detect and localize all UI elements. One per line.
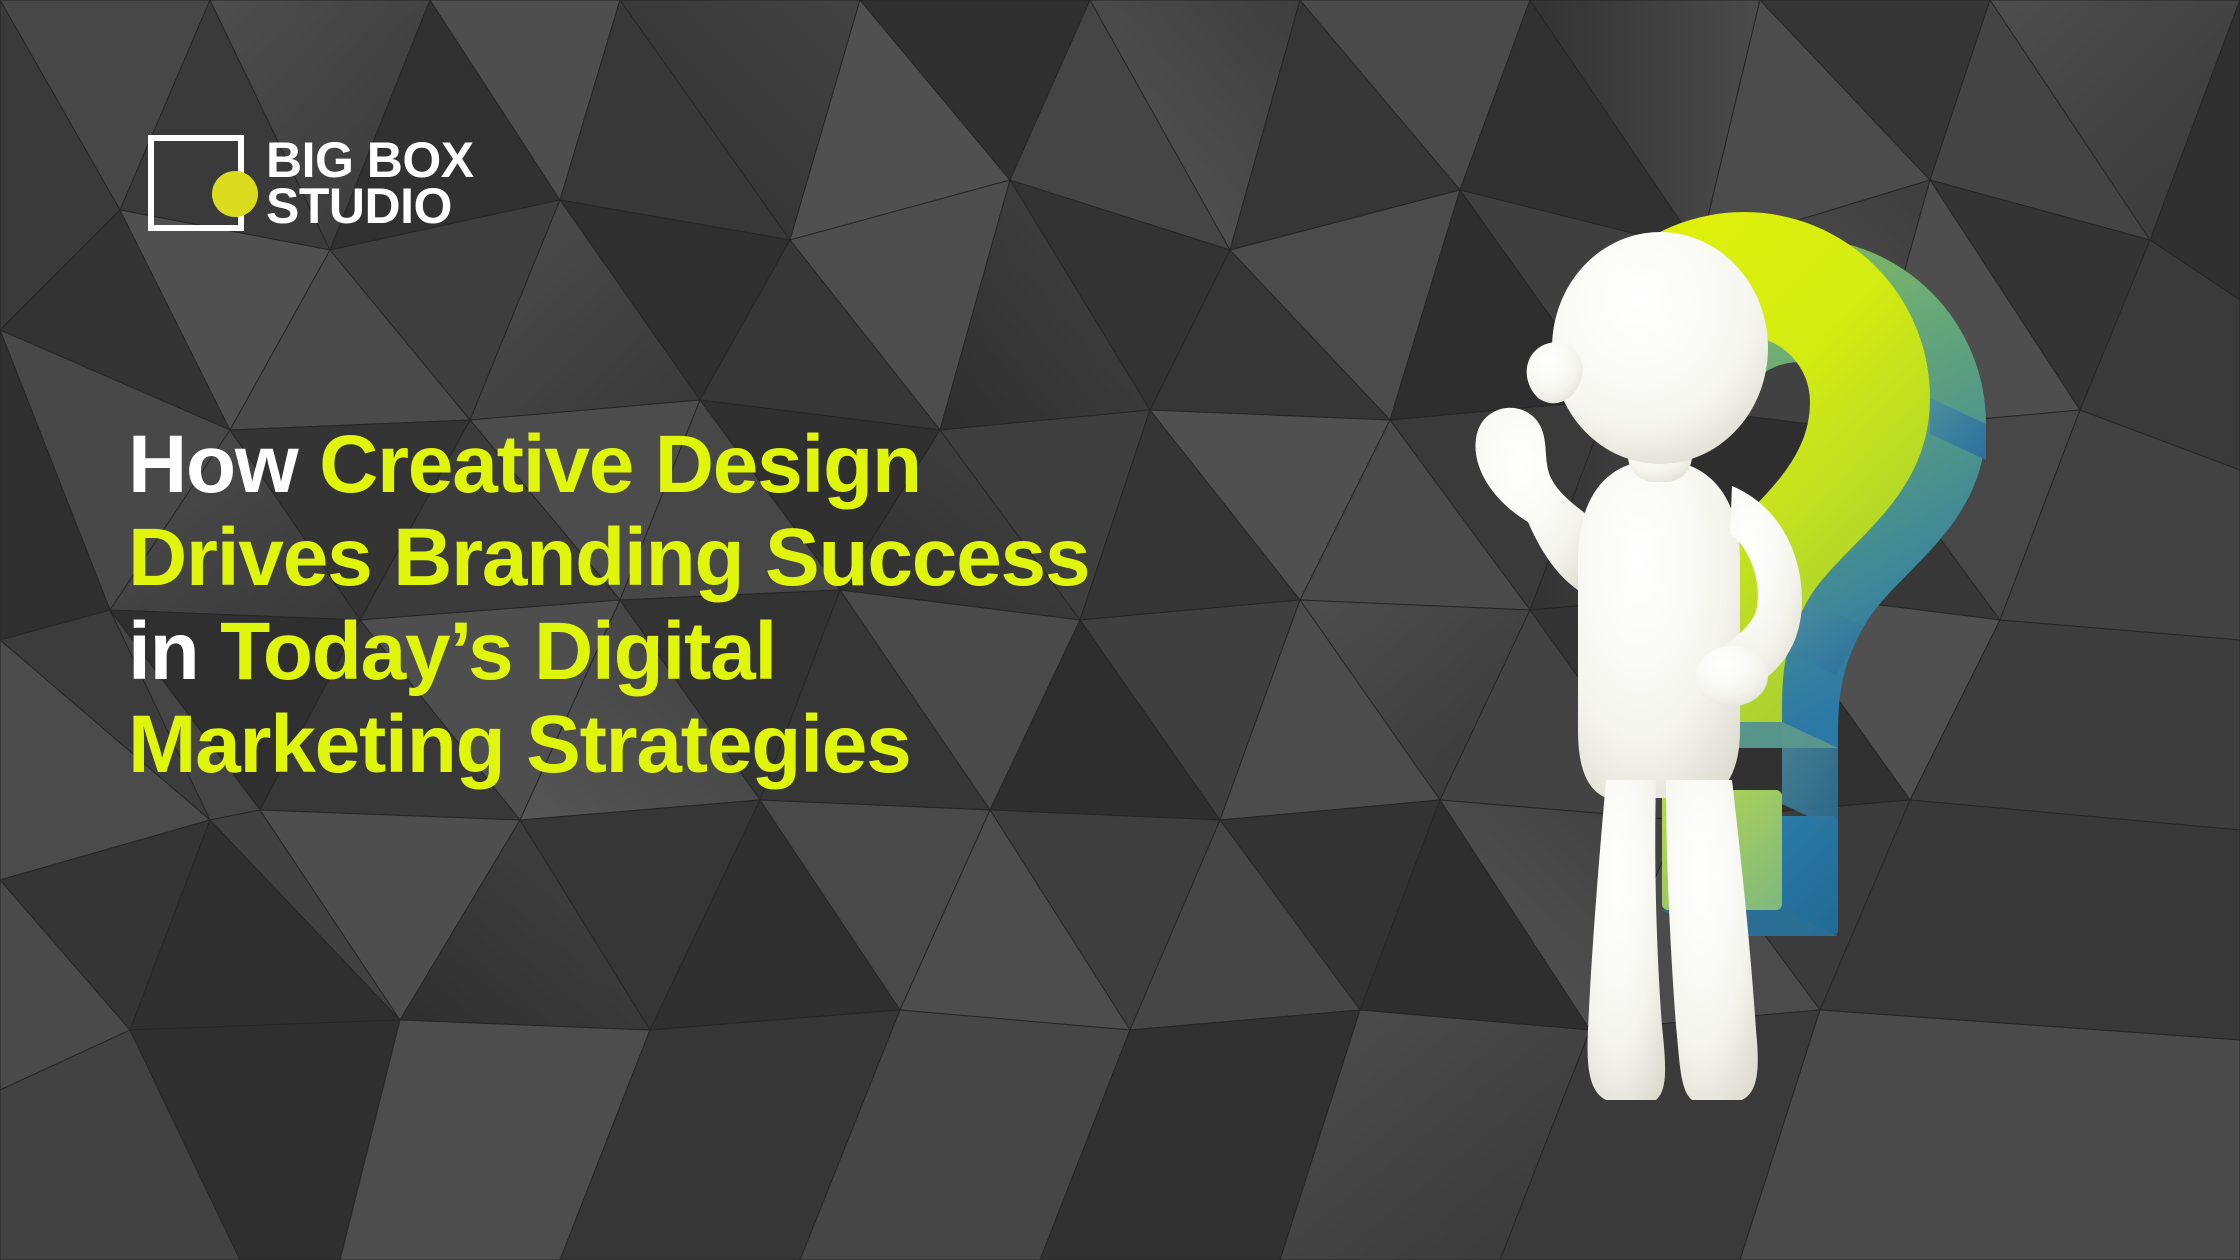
headline-line-3: in Today’s Digital xyxy=(128,605,1448,698)
headline-word-accent-2: Drives Branding Success xyxy=(128,512,1089,603)
headline-line-2: Drives Branding Success xyxy=(128,511,1448,604)
banner-canvas: BIG BOX STUDIO How Creative Design Drive… xyxy=(0,0,2240,1260)
headline-word-accent-4: Marketing Strategies xyxy=(128,699,911,790)
logo-yellow-dot xyxy=(212,171,258,217)
logo-wordmark: BIG BOX STUDIO xyxy=(266,137,474,230)
headline-word-accent-1: Creative Design xyxy=(319,419,921,510)
page-title: How Creative Design Drives Branding Succ… xyxy=(128,418,1448,792)
brand-logo[interactable]: BIG BOX STUDIO xyxy=(148,135,474,231)
headline-line-4: Marketing Strategies xyxy=(128,698,1448,791)
logo-line-1: BIG BOX xyxy=(266,137,474,184)
question-mark-and-figure-artwork xyxy=(1410,130,2170,1150)
headline-word-white-1: How xyxy=(128,419,319,510)
square-outline-with-dot-icon xyxy=(148,135,244,231)
headline-word-white-3: in xyxy=(128,606,220,697)
thinking-person-3d-figure xyxy=(1475,232,1802,1100)
headline-line-1: How Creative Design xyxy=(128,418,1448,511)
hero-illustration xyxy=(1410,130,2170,1150)
headline-word-accent-3: Today’s Digital xyxy=(220,606,776,697)
logo-line-2: STUDIO xyxy=(266,183,474,230)
